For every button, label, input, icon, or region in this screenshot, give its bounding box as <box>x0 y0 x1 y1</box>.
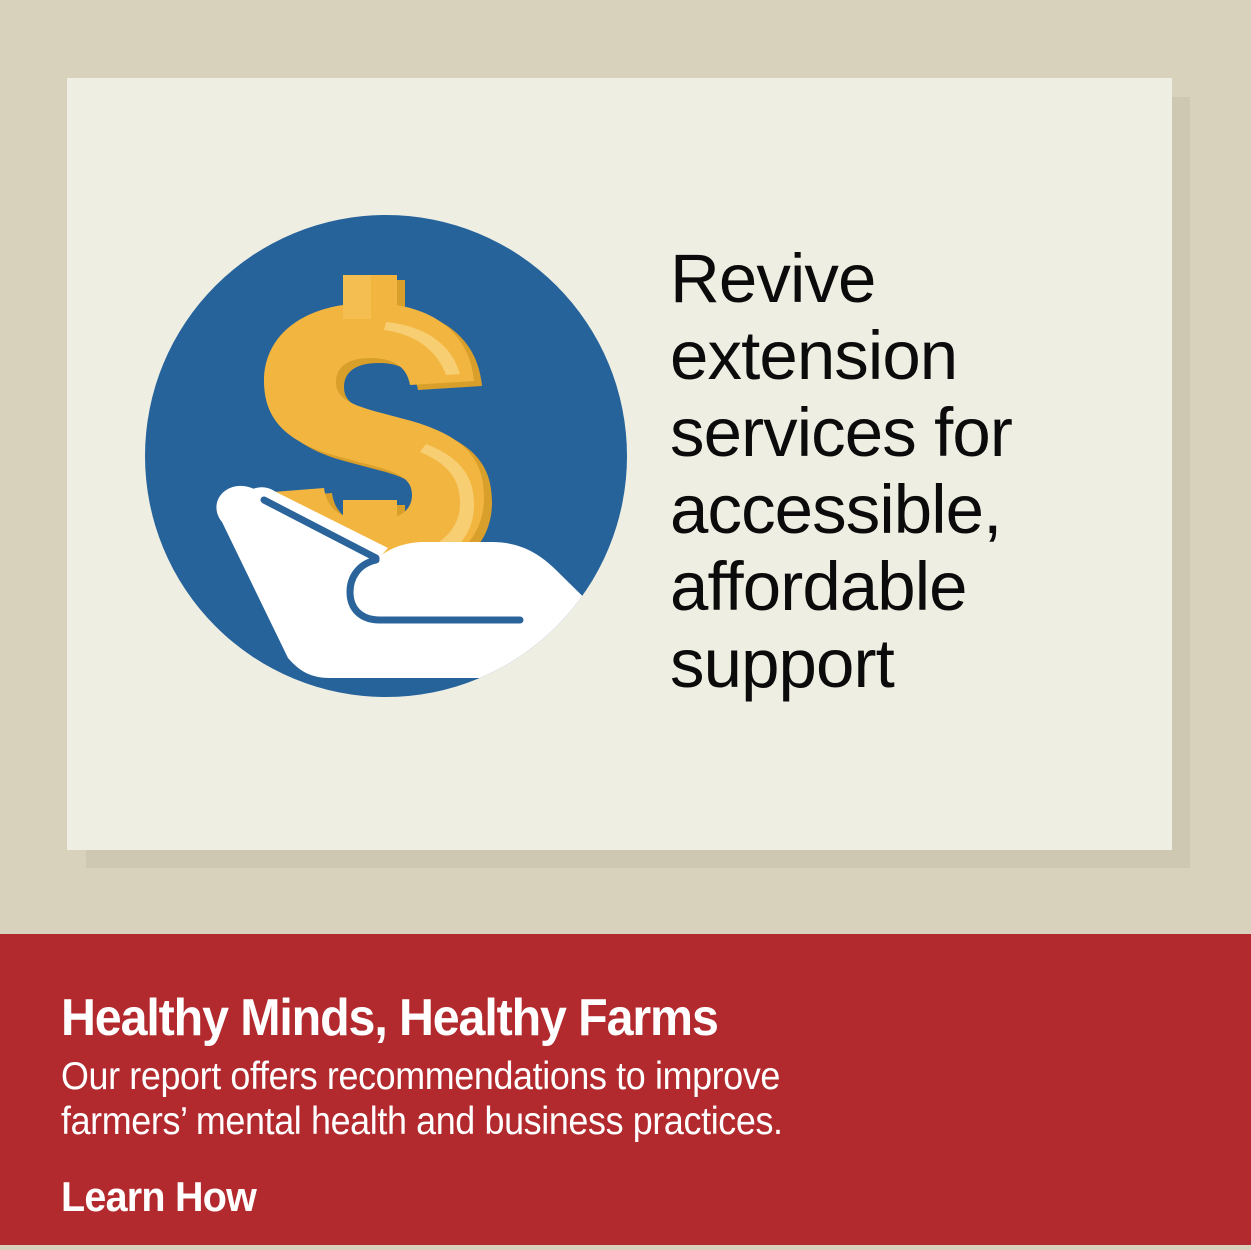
promo-banner: Healthy Minds, Healthy Farms Our report … <box>0 934 1251 1245</box>
hand-holding-dollar-icon <box>130 200 642 712</box>
banner-title: Healthy Minds, Healthy Farms <box>61 990 814 1046</box>
bottom-strip <box>0 1245 1251 1250</box>
page-title: Revive extension services for accessible… <box>670 240 1070 702</box>
banner-subtitle: Our report offers recommendations to imp… <box>61 1054 806 1144</box>
learn-how-link[interactable]: Learn How <box>61 1174 256 1220</box>
banner-text-block: Healthy Minds, Healthy Farms Our report … <box>61 990 871 1220</box>
advertisement-banner: Revive extension services for accessible… <box>0 0 1251 1250</box>
